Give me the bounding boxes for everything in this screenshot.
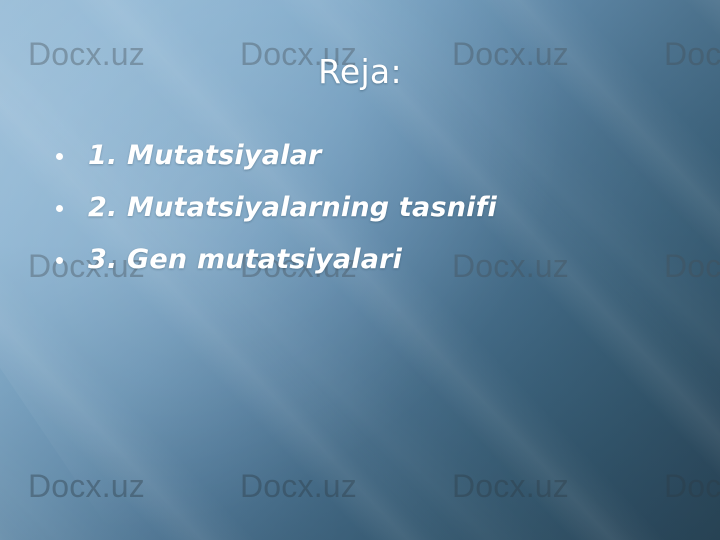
bullet-list-item: 3. Gen mutatsiyalari [48, 236, 700, 288]
bullet-list-item: 1. Mutatsiyalar [48, 132, 700, 184]
bullet-dot-icon [56, 257, 63, 264]
bullet-dot-icon [56, 153, 63, 160]
bullet-item-label: 2. Mutatsiyalarning tasnifi [88, 192, 497, 223]
slide-bullet-list: 1. Mutatsiyalar 2. Mutatsiyalarning tasn… [48, 132, 700, 288]
bullet-dot-icon [56, 205, 63, 212]
bullet-item-label: 1. Mutatsiyalar [88, 140, 322, 171]
slide-content: Reja: 1. Mutatsiyalar 2. Mutatsiyalarnin… [0, 0, 720, 540]
bullet-list-item: 2. Mutatsiyalarning tasnifi [48, 184, 700, 236]
slide-title: Reja: [0, 52, 720, 91]
presentation-slide: Docx.uzDocx.uzDocx.uzDoc Docx.uzDocx.uzD… [0, 0, 720, 540]
bullet-item-label: 3. Gen mutatsiyalari [88, 244, 402, 275]
